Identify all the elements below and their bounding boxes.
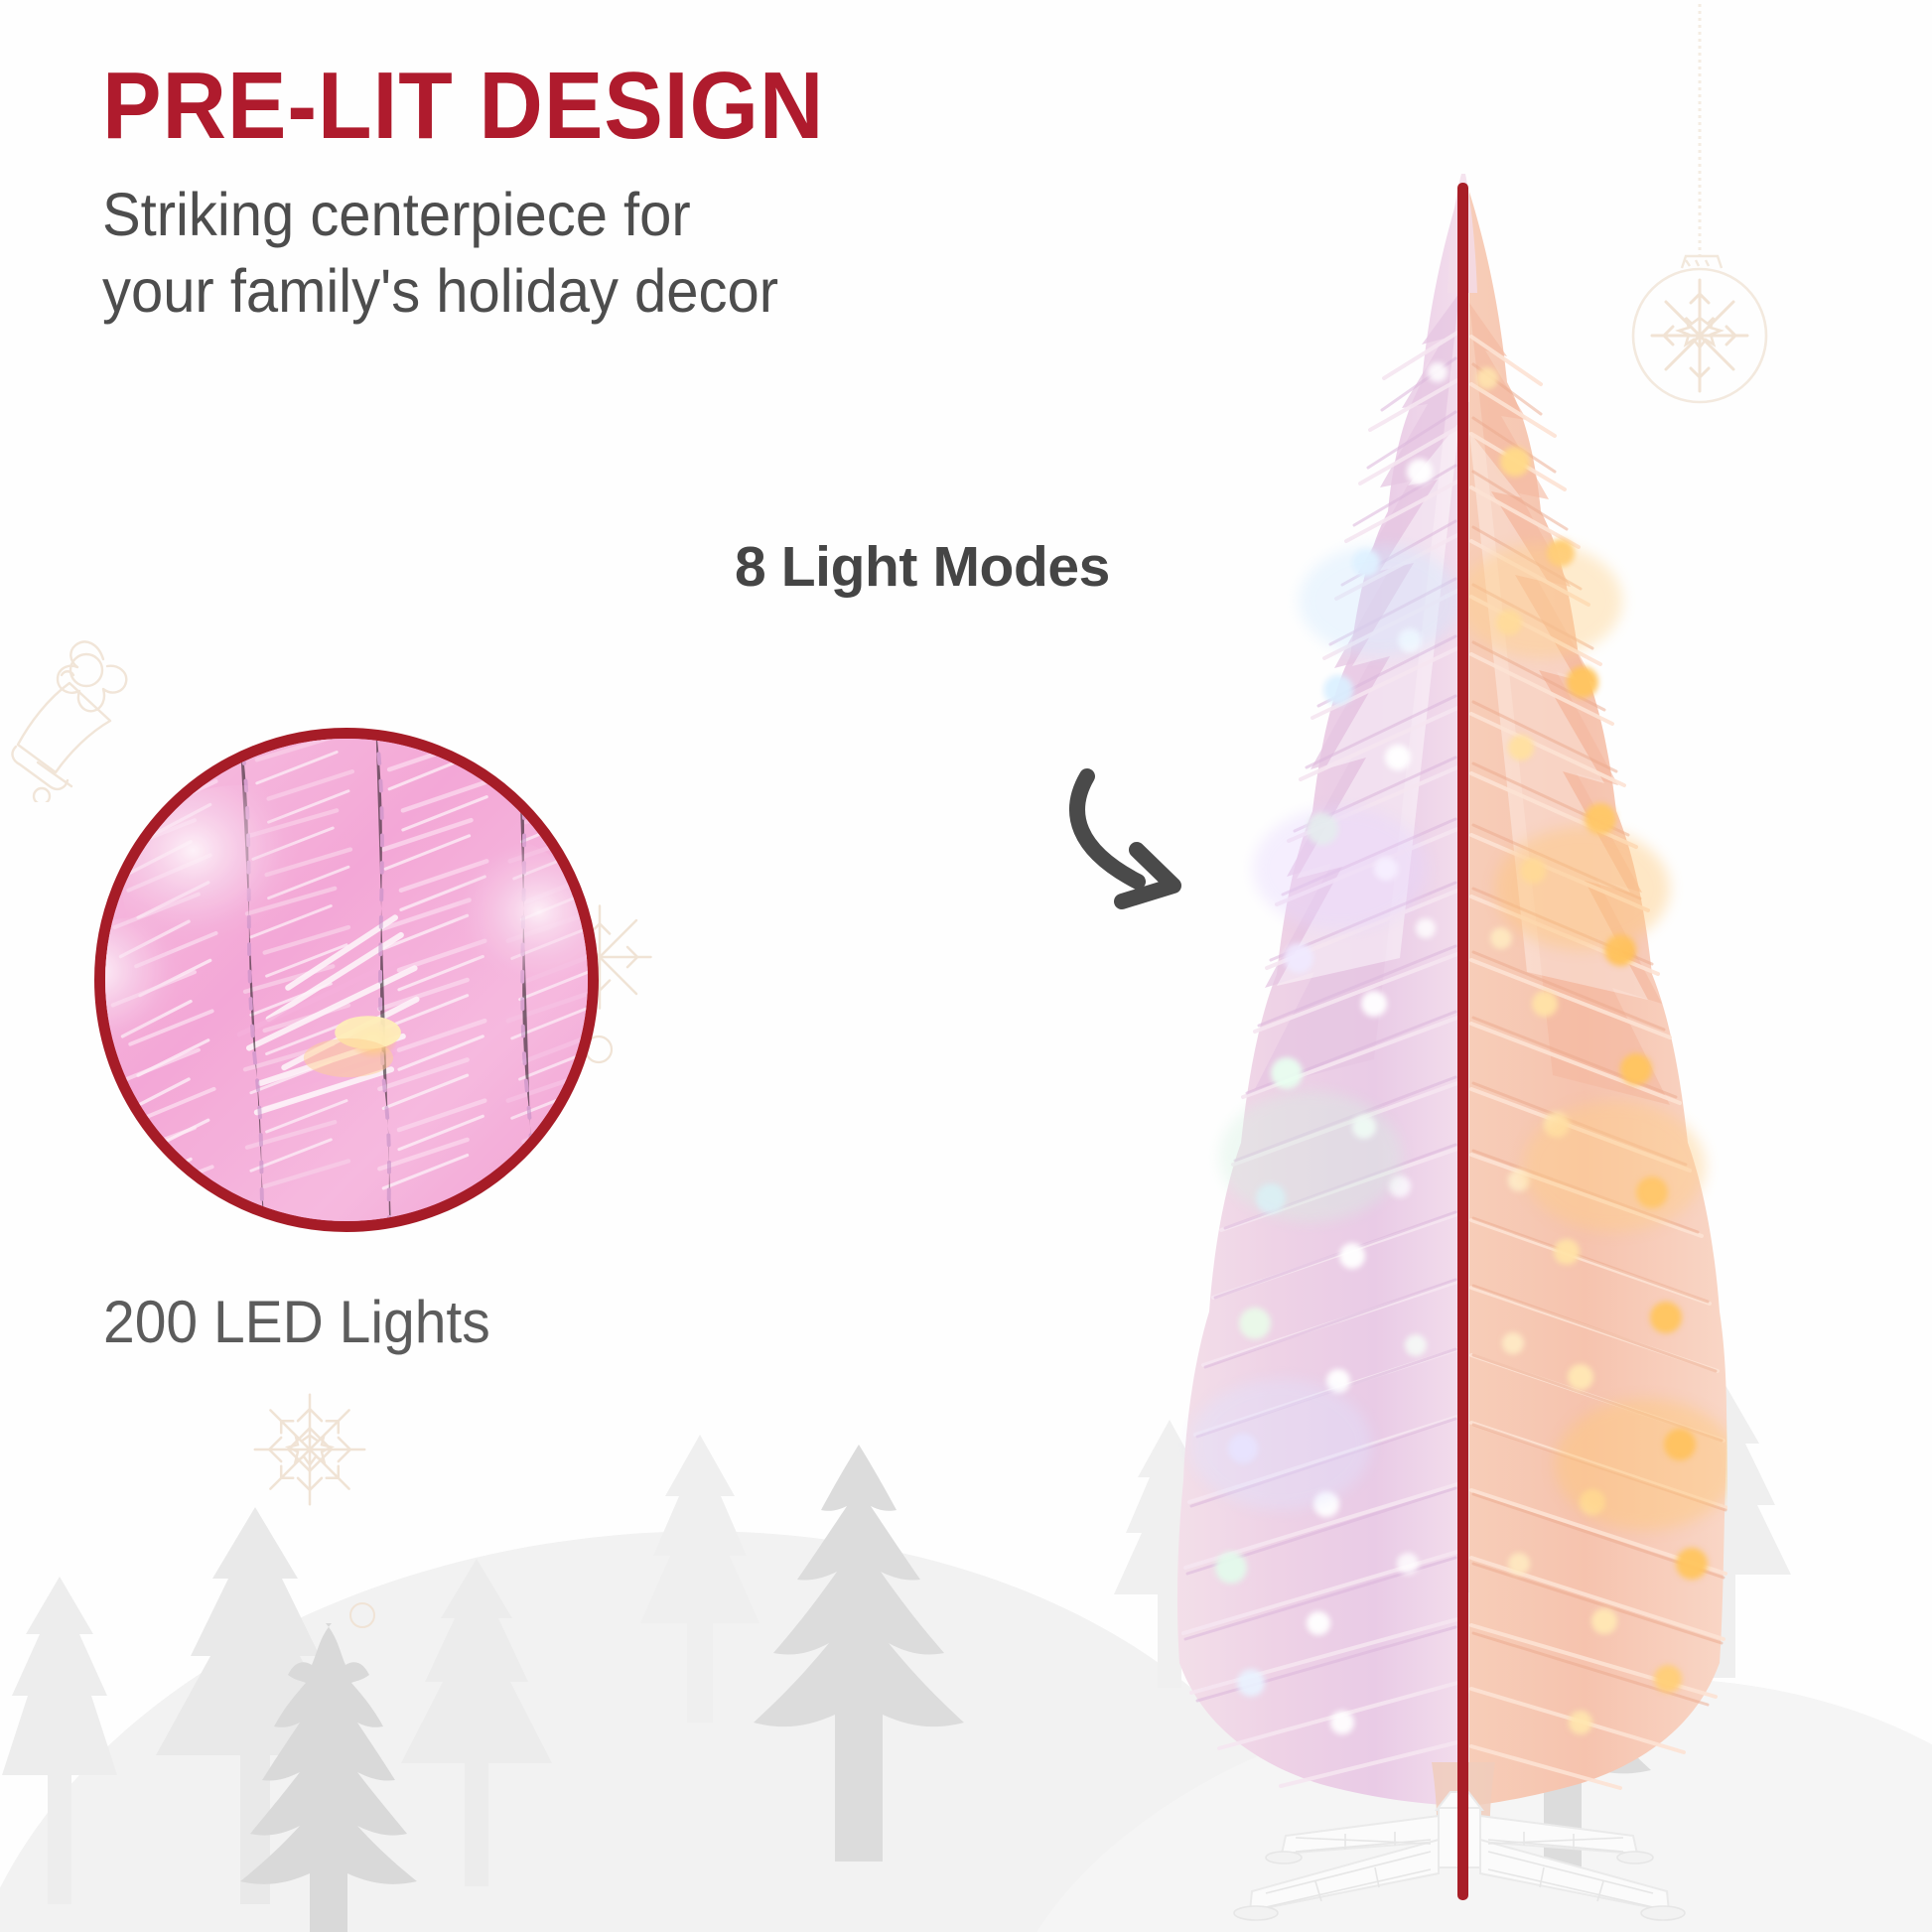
small-circle-dot-icon	[347, 1600, 377, 1635]
pine-tree-silhouette	[635, 1435, 764, 1723]
pine-tree-silhouette	[199, 1623, 457, 1932]
headline-subtitle: Striking centerpiece for your family's h…	[102, 177, 1045, 331]
tree-illustration	[1172, 174, 1727, 1901]
tinsel-detail-inset	[94, 728, 599, 1232]
snow-hill	[0, 1495, 1343, 1932]
tinsel-closeup-illustration	[94, 728, 599, 1232]
snowflake-outline-icon	[250, 1390, 369, 1514]
light-modes-label: 8 Light Modes	[735, 534, 1110, 600]
led-count-caption: 200 LED Lights	[103, 1288, 490, 1356]
headline-block: PRE-LIT DESIGN Striking centerpiece for …	[102, 58, 1095, 331]
headline-subtitle-line-2: your family's holiday decor	[102, 253, 1045, 330]
pine-tree-silhouette	[710, 1445, 1008, 1871]
headline-subtitle-line-1: Striking centerpiece for	[102, 177, 1045, 253]
tree-split-divider-line	[1457, 183, 1468, 1900]
product-feature-panel: PRE-LIT DESIGN Striking centerpiece for …	[0, 0, 1932, 1932]
pine-tree-silhouette	[151, 1507, 359, 1904]
pine-tree-silhouette	[0, 1577, 119, 1904]
product-image-christmas-tree	[1172, 174, 1727, 1901]
page-title: PRE-LIT DESIGN	[102, 58, 1026, 155]
pine-tree-silhouette	[397, 1559, 556, 1886]
